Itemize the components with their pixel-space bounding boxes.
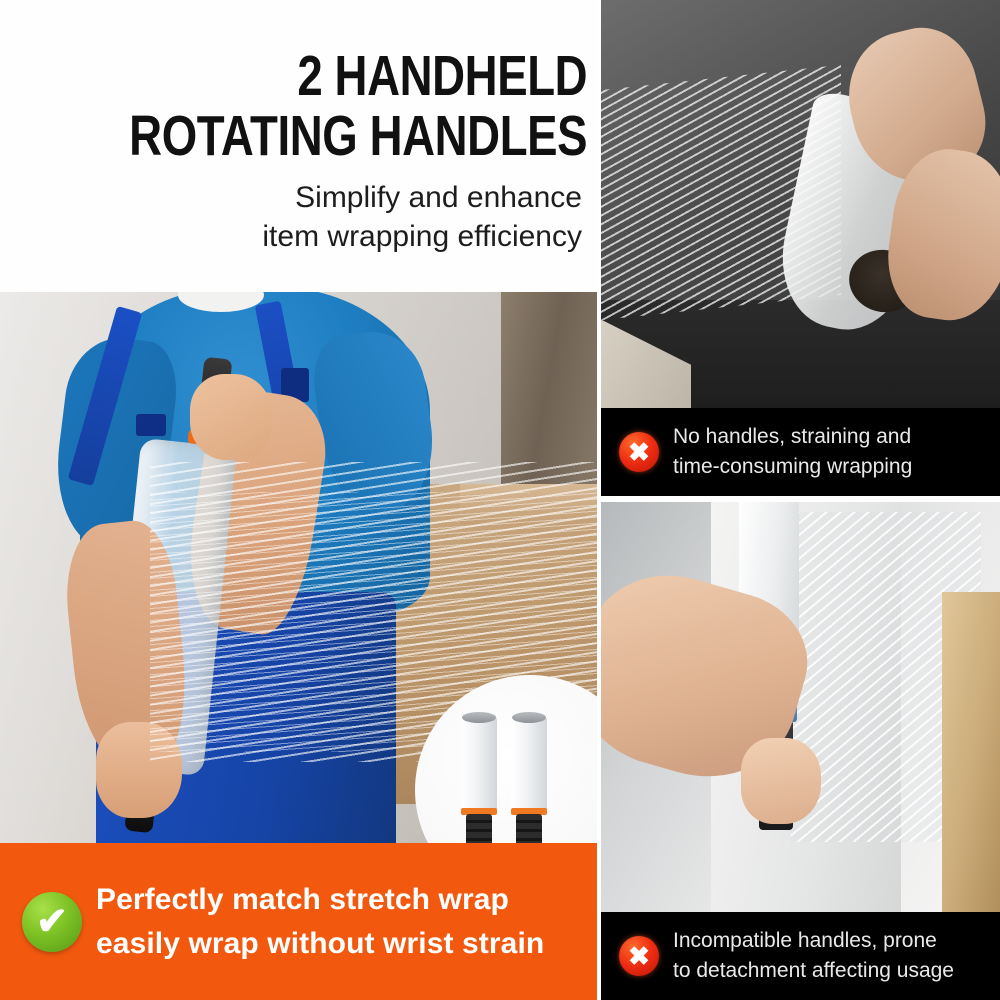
hand-on-incompatible-handle-photo (601, 502, 1000, 912)
product-handle-2 (511, 715, 547, 843)
worker-wrapping-box-photo (0, 292, 597, 843)
benefit-banner-text: Perfectly match stretch wrap easily wrap… (96, 878, 544, 966)
panel-divider-vertical (597, 0, 601, 1000)
worker-upper-hand (190, 374, 272, 460)
overall-buckle-left (136, 414, 166, 436)
header-block: 2 HANDHELD ROTATING HANDLES Simplify and… (0, 0, 600, 292)
drawback-callout-2-text: Incompatible handles, prone to detachmen… (673, 926, 954, 986)
page-title: 2 HANDHELD ROTATING HANDLES (120, 0, 600, 166)
drawback-callout-1-text: No handles, straining and time-consuming… (673, 422, 912, 482)
check-glyph: ✔ (22, 892, 82, 952)
check-circle-icon: ✔ (22, 892, 82, 952)
drawback-callout-2: ✖ Incompatible handles, prone to detachm… (601, 912, 1000, 1000)
x-circle-icon: ✖ (619, 936, 659, 976)
wooden-furniture-edge (942, 592, 1000, 912)
handle-cap (512, 712, 546, 723)
handle-cap (462, 712, 496, 723)
drawback-callout-1: ✖ No handles, straining and time-consumi… (601, 408, 1000, 496)
handle-black-grip (466, 814, 492, 843)
x-circle-icon: ✖ (619, 432, 659, 472)
page-subtitle: Simplify and enhance item wrapping effic… (0, 166, 600, 256)
person-hand (741, 738, 821, 824)
product-handle-1 (461, 715, 497, 843)
hands-holding-roll-no-handles-photo (601, 0, 1000, 408)
x-glyph: ✖ (619, 432, 659, 472)
handle-tube (511, 715, 547, 811)
handle-tube (461, 715, 497, 811)
product-infographic: 2 HANDHELD ROTATING HANDLES Simplify and… (0, 0, 1000, 1000)
benefit-banner: ✔ Perfectly match stretch wrap easily wr… (0, 843, 597, 1000)
x-glyph: ✖ (619, 936, 659, 976)
handle-black-grip (516, 814, 542, 843)
